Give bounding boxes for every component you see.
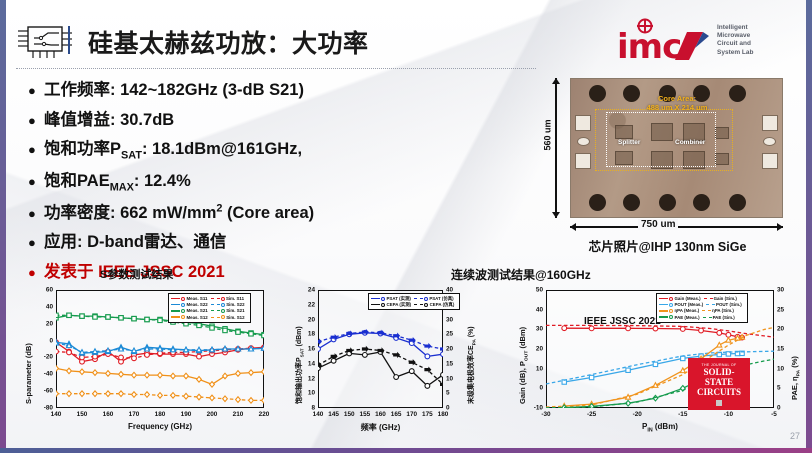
legend-marker	[181, 303, 185, 307]
chart-legend: Meas. S11Sim. S11Meas. S22Sim. S22Meas. …	[168, 293, 251, 323]
x-tick-label: -10	[724, 411, 733, 418]
y-tick-label: 50	[524, 287, 543, 294]
bullet-text: 应用: D-band雷达、通信	[44, 228, 226, 252]
imcs-logo-mark: imc	[617, 18, 717, 66]
legend-marker	[221, 315, 225, 319]
legend-item: Sim. S11	[211, 296, 245, 301]
x-tick-label: 160	[375, 411, 386, 418]
legend-row: POUT (Meas.)POUT (Sim.)	[659, 302, 745, 308]
bullet-marker: ●	[28, 175, 44, 188]
legend-marker	[381, 303, 385, 307]
legend-line-swatch	[659, 298, 668, 299]
legend-row: PSAT (实测)PSAT (仿真)	[371, 296, 457, 302]
legend-line-swatch	[171, 298, 180, 299]
x-axis-label: PIN (dBm)	[546, 422, 774, 434]
bullet-text: 饱和功率PSAT: 18.1dBm@161GHz,	[44, 135, 302, 161]
legend-marker	[181, 315, 185, 319]
list-item: ● 应用: D-band雷达、通信	[28, 228, 538, 252]
legend-marker	[669, 297, 673, 301]
x-tick-label: 170	[406, 411, 417, 418]
legend-line-swatch	[171, 304, 180, 305]
chart-s-parameter: 140150160170180190200210220-80-60-40-200…	[16, 282, 278, 440]
y-tick-label-right: 30	[777, 287, 791, 294]
y-tick-label: -20	[34, 354, 53, 361]
legend-line-swatch	[171, 310, 180, 311]
y-tick-label: 22	[296, 301, 315, 308]
legend-label: PAE (Meas.)	[675, 315, 700, 320]
badge-line-3: CIRCUITS	[697, 387, 741, 397]
legend-line-swatch	[171, 316, 180, 317]
legend-line-swatch	[659, 304, 668, 305]
x-tick-label: 145	[328, 411, 339, 418]
legend-item: ηPA (Sim.)	[702, 308, 734, 313]
y-axis-label-right: 末级集电极效率CEPA (%)	[466, 326, 476, 404]
splitter-label: Splitter	[618, 139, 640, 146]
legend-item: Meas. S12	[171, 315, 208, 320]
legend-line-swatch	[414, 298, 423, 299]
circuit-chip-icon	[17, 24, 75, 60]
legend-marker	[669, 315, 673, 319]
logo-sub-line-4: System Lab	[717, 49, 754, 57]
x-tick-label: 150	[344, 411, 355, 418]
x-tick-label: 190	[181, 411, 192, 418]
legend-marker	[221, 309, 225, 313]
legend-marker	[221, 297, 225, 301]
y-tick-label: -60	[34, 388, 53, 395]
legend-marker	[181, 309, 185, 313]
core-area-label: Core Area: 488 um X 214 um	[617, 94, 737, 112]
legend-item: PSAT (实测)	[371, 296, 411, 302]
y-tick-label-right: 5	[777, 385, 791, 392]
jssc-annotation: IEEE JSSC 2021	[584, 316, 661, 327]
y-tick-label: 0	[34, 337, 53, 344]
legend-label: Meas. S11	[187, 296, 208, 301]
x-tick-label: 220	[259, 411, 270, 418]
y-tick-label: 20	[34, 320, 53, 327]
y-tick-label-right: 10	[446, 375, 460, 382]
legend-row: Meas. S12Sim. S12	[171, 314, 248, 320]
x-tick-label: 175	[422, 411, 433, 418]
y-axis-label: S-parameter (dB)	[24, 343, 33, 404]
core-area-title: Core Area:	[617, 94, 737, 103]
legend-item: Sim. S22	[211, 302, 245, 307]
bullet-text: 峰值增益: 30.7dB	[44, 106, 174, 130]
legend-marker	[424, 303, 428, 307]
legend-row: CEPA (实测)CEPA (仿真)	[371, 302, 457, 308]
legend-label: Sim. S12	[226, 315, 244, 320]
legend-label: Sim. S21	[226, 308, 244, 313]
chart-title-cw-160ghz: 连续波测试结果@160GHz	[451, 266, 591, 283]
legend-item: Meas. S11	[171, 296, 208, 301]
legend-line-swatch	[659, 310, 668, 311]
logo-sub-line-2: Microwave	[717, 32, 754, 40]
legend-item: PSAT (仿真)	[414, 296, 454, 302]
jssc-journal-badge: THE JOURNAL OF SOLID-STATE CIRCUITS	[688, 358, 750, 410]
x-tick-label: 170	[129, 411, 140, 418]
legend-line-swatch	[371, 304, 380, 305]
chart-legend: Gain (Meas.)Gain (Sim.)POUT (Meas.)POUT …	[656, 293, 748, 323]
legend-label: Meas. S22	[187, 302, 208, 307]
chip-height-dimension-arrow	[555, 78, 557, 218]
legend-line-swatch	[659, 316, 668, 317]
legend-label: Meas. S21	[187, 308, 208, 313]
legend-line-swatch	[371, 298, 380, 299]
x-tick-label: 160	[103, 411, 114, 418]
legend-line-swatch	[702, 310, 711, 311]
y-axis-label-left: Gain (dB), POUT (dBm)	[518, 327, 530, 404]
list-item: ● 功率密度: 662 mW/mm2 (Core area)	[28, 199, 538, 223]
slide-bottom-border	[0, 448, 812, 453]
bullet-text: 工作频率: 142~182GHz (3-dB S21)	[44, 76, 304, 100]
y-tick-label-right: 0	[777, 405, 791, 412]
imcs-logo: imc Intelligent Microwave Circuit and Sy…	[617, 18, 803, 66]
legend-item: Gain (Meas.)	[659, 296, 701, 301]
x-tick-label: 180	[155, 411, 166, 418]
x-axis-label: 频率 (GHz)	[318, 422, 443, 433]
bullet-marker: ●	[28, 143, 44, 156]
chart-cw-160ghz: -30-25-20-15-10-5-1001020304050051015202…	[488, 282, 798, 440]
chip-micrograph-figure: 560 um	[545, 78, 790, 253]
bullet-text: 饱和PAEMAX: 12.4%	[44, 167, 191, 193]
x-tick-label: 140	[51, 411, 62, 418]
x-tick-label: -15	[678, 411, 687, 418]
x-tick-label: 200	[207, 411, 218, 418]
y-axis-label-left: 饱和输出功率PSAT (dBm)	[294, 326, 304, 404]
y-tick-label-right: 20	[446, 346, 460, 353]
bullet-marker: ●	[28, 236, 44, 249]
legend-label: Meas. S12	[187, 315, 208, 320]
page-title: 硅基太赫兹功放：大功率	[88, 24, 369, 60]
bullet-marker: ●	[28, 207, 44, 220]
y-tick-label: 40	[34, 303, 53, 310]
badge-line-2: SOLID-STATE	[691, 367, 747, 387]
x-axis-label: Frequency (GHz)	[56, 422, 264, 431]
legend-item: Sim. S21	[211, 308, 245, 313]
legend-label: POUT (Sim.)	[716, 302, 742, 307]
legend-label: PSAT (仿真)	[429, 296, 453, 302]
bullet-list: ● 工作频率: 142~182GHz (3-dB S21) ● 峰值增益: 30…	[28, 76, 538, 287]
legend-row: ηPA (Meas.)ηPA (Sim.)	[659, 308, 745, 314]
chip-die-photo: Core Area: 488 um X 214 um Splitter Comb…	[570, 78, 783, 218]
legend-item: Meas. S22	[171, 302, 208, 307]
legend-marker	[181, 297, 185, 301]
legend-marker	[381, 297, 385, 301]
slide-canvas: 硅基太赫兹功放：大功率 imc Intelligent Microwave Ci…	[0, 0, 812, 453]
chart-title-s-parameter: S参数测试结果	[100, 266, 173, 282]
y-tick-label: 20	[296, 316, 315, 323]
list-item: ● 工作频率: 142~182GHz (3-dB S21)	[28, 76, 538, 100]
logo-sub-line-1: Intelligent	[717, 24, 754, 32]
y-tick-label-right: 30	[446, 316, 460, 323]
bullet-marker: ●	[28, 266, 44, 279]
bullet-marker: ●	[28, 84, 44, 97]
svg-text:imc: imc	[617, 27, 681, 66]
legend-marker	[669, 303, 673, 307]
bullet-text: 功率密度: 662 mW/mm2 (Core area)	[44, 199, 314, 223]
y-tick-label-right: 25	[446, 331, 460, 338]
x-tick-label: 150	[77, 411, 88, 418]
legend-item: PAE (Meas.)	[659, 315, 700, 320]
x-tick-label: 155	[360, 411, 371, 418]
y-tick-label-right: 0	[446, 405, 460, 412]
list-item: ● 饱和功率PSAT: 18.1dBm@161GHz,	[28, 135, 538, 161]
legend-line-swatch	[211, 310, 220, 311]
x-tick-label: -20	[633, 411, 642, 418]
y-axis-label-right: PAE, ηPA (%)	[790, 356, 802, 400]
legend-line-swatch	[414, 304, 423, 305]
chip-width-label: 750 um	[638, 219, 678, 230]
legend-label: Sim. S22	[226, 302, 244, 307]
y-tick-label: 8	[296, 405, 315, 412]
legend-line-swatch	[211, 317, 220, 318]
legend-item: POUT (Sim.)	[706, 302, 742, 307]
chart-legend: PSAT (实测)PSAT (仿真)CEPA (实测)CEPA (仿真)	[368, 293, 460, 310]
legend-item: POUT (Meas.)	[659, 302, 703, 307]
y-tick-label-right: 10	[777, 365, 791, 372]
x-tick-label: -30	[541, 411, 550, 418]
legend-item: PAE (Sim.)	[703, 315, 735, 320]
legend-marker	[669, 309, 673, 313]
y-tick-label-right: 15	[777, 346, 791, 353]
legend-row: PAE (Meas.)PAE (Sim.)	[659, 314, 745, 320]
bullet-marker: ●	[28, 114, 44, 127]
legend-label: CEPA (实测)	[387, 302, 412, 308]
legend-label: PAE (Sim.)	[713, 315, 735, 320]
legend-label: Gain (Meas.)	[675, 296, 701, 301]
x-tick-label: 165	[391, 411, 402, 418]
y-tick-label: 60	[34, 287, 53, 294]
imcs-logo-subtitle: Intelligent Microwave Circuit and System…	[717, 24, 754, 57]
x-tick-label: 180	[438, 411, 449, 418]
legend-line-swatch	[211, 304, 220, 305]
legend-line-swatch	[211, 298, 220, 299]
legend-item: CEPA (仿真)	[414, 302, 454, 308]
legend-item: CEPA (实测)	[371, 302, 411, 308]
legend-item: ηPA (Meas.)	[659, 308, 699, 313]
legend-item: Gain (Sim.)	[704, 296, 737, 301]
y-tick-label: -10	[524, 405, 543, 412]
legend-marker	[424, 297, 428, 301]
combiner-label: Combiner	[675, 139, 705, 146]
y-tick-label-right: 5	[446, 390, 460, 397]
logo-sub-line-3: Circuit and	[717, 40, 754, 48]
legend-label: CEPA (仿真)	[430, 302, 455, 308]
legend-line-swatch	[706, 304, 715, 305]
chip-height-label: 560 um	[543, 119, 553, 150]
x-tick-label: 210	[233, 411, 244, 418]
chip-photo-caption: 芯片照片@IHP 130nm SiGe	[545, 236, 790, 255]
legend-label: ηPA (Meas.)	[675, 308, 700, 313]
x-tick-label: 140	[313, 411, 324, 418]
y-tick-label-right: 15	[446, 360, 460, 367]
slide-left-border	[0, 0, 6, 453]
legend-line-swatch	[704, 298, 713, 299]
list-item: ● 饱和PAEMAX: 12.4%	[28, 167, 538, 193]
legend-label: POUT (Meas.)	[675, 302, 704, 307]
chart-psat-vs-frequency: 1401451501551601651701751808101214161820…	[290, 282, 480, 440]
y-tick-label: -40	[34, 371, 53, 378]
y-tick-label: -80	[34, 405, 53, 412]
legend-label: Gain (Sim.)	[714, 296, 737, 301]
legend-line-swatch	[703, 317, 712, 318]
y-tick-label-right: 20	[777, 326, 791, 333]
legend-label: Sim. S11	[226, 296, 244, 301]
slide-right-border	[806, 0, 812, 453]
core-area-dimensions: 488 um X 214 um	[617, 103, 737, 112]
y-tick-label: 24	[296, 287, 315, 294]
header-divider	[16, 68, 536, 69]
y-tick-label: 40	[524, 306, 543, 313]
x-tick-label: -25	[587, 411, 596, 418]
badge-dot-icon	[716, 400, 722, 406]
page-number: 27	[790, 431, 800, 441]
legend-marker	[221, 303, 225, 307]
legend-label: PSAT (实测)	[387, 296, 411, 302]
legend-item: Sim. S12	[211, 315, 245, 320]
x-tick-label: -5	[771, 411, 777, 418]
legend-label: ηPA (Sim.)	[712, 308, 734, 313]
y-tick-label-right: 25	[777, 306, 791, 313]
list-item: ● 峰值增益: 30.7dB	[28, 106, 538, 130]
legend-item: Meas. S21	[171, 308, 208, 313]
